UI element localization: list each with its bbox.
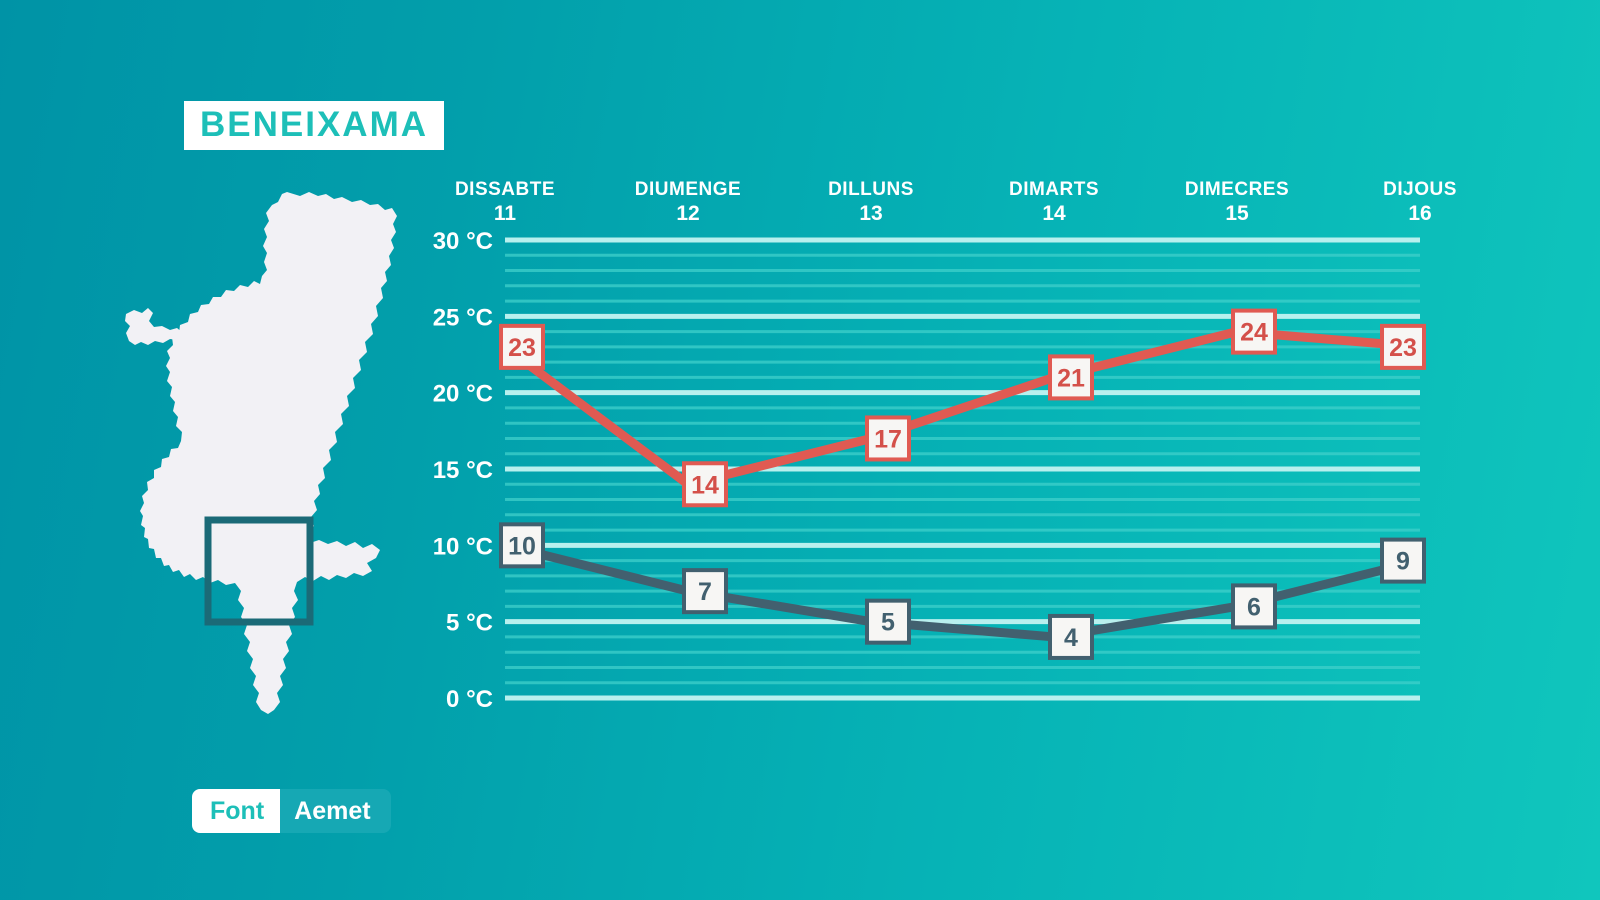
x-axis-day-number: 16 [1408,202,1431,225]
x-axis-day-number: 14 [1042,202,1066,225]
data-point-value: 14 [691,471,719,499]
data-point-value: 23 [508,334,536,362]
data-point-value: 23 [1389,334,1417,362]
x-axis-day-number: 15 [1225,202,1249,225]
y-axis-tick-label: 30 °C [433,228,493,255]
data-point-value: 21 [1057,364,1085,392]
x-axis-day-name: DIMARTS [1009,179,1099,200]
temperature-chart: 30 °C25 °C20 °C15 °C10 °C5 °C0 °C DISSAB… [0,0,1600,900]
data-point-label: 6 [1233,585,1275,627]
x-axis-day-name: DIMECRES [1185,179,1289,200]
data-point-label: 21 [1050,356,1092,398]
data-point-label: 23 [1382,326,1424,368]
y-axis-tick-label: 20 °C [433,381,493,408]
data-point-label: 9 [1382,540,1424,582]
data-point-label: 17 [867,417,909,459]
data-point-value: 24 [1240,319,1268,347]
data-point-value: 4 [1064,624,1078,652]
x-axis-tick-labels: DISSABTE11DIUMENGE12DILLUNS13DIMARTS14DI… [455,179,1457,225]
data-point-label: 24 [1233,311,1275,353]
x-axis-day-name: DISSABTE [455,179,555,200]
data-point-value: 10 [508,532,536,560]
x-axis-day-number: 12 [676,202,699,225]
data-point-label: 10 [501,524,543,566]
data-point-label: 23 [501,326,543,368]
data-point-value: 5 [881,609,895,637]
x-axis-day-number: 11 [494,202,517,225]
x-axis-day-number: 13 [859,202,882,225]
data-point-value: 6 [1247,593,1261,621]
data-point-label: 7 [684,570,726,612]
y-axis-tick-label: 10 °C [433,533,493,560]
data-point-value: 9 [1396,548,1410,576]
x-axis-day-name: DIJOUS [1383,179,1457,200]
data-point-value: 7 [698,578,712,606]
y-axis-tick-label: 5 °C [446,610,493,637]
data-point-label: 4 [1050,616,1092,658]
data-point-label: 5 [867,601,909,643]
data-point-value: 17 [874,425,902,453]
y-axis-tick-label: 0 °C [446,686,493,713]
x-axis-day-name: DILLUNS [828,179,914,200]
y-axis-tick-label: 15 °C [433,457,493,484]
data-point-label: 14 [684,463,726,505]
y-axis-tick-label: 25 °C [433,304,493,331]
y-axis-tick-labels: 30 °C25 °C20 °C15 °C10 °C5 °C0 °C [433,228,493,713]
x-axis-day-name: DIUMENGE [635,179,741,200]
